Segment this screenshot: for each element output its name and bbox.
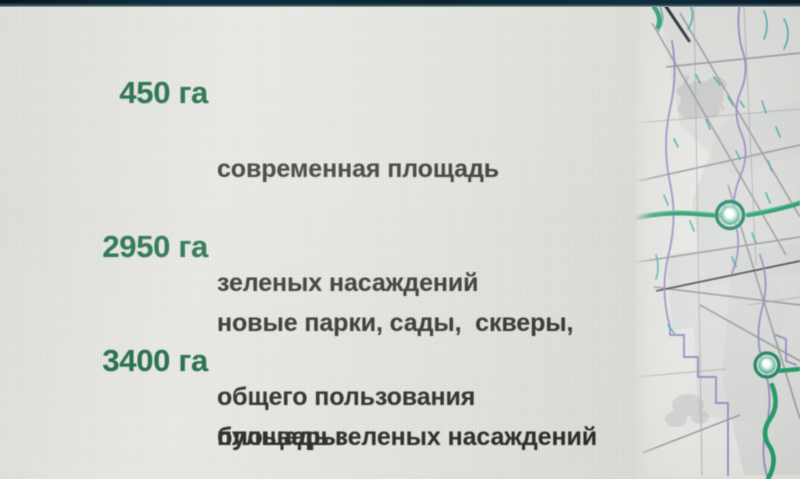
stat-description-line: современная площадь	[217, 150, 662, 188]
stat-row: 3400 га площадь зеленых насаждений общег…	[62, 342, 702, 479]
stats-list: 450 га современная площадь зеленых насаж…	[0, 0, 800, 479]
stat-description-line: новые парки, сады, скверы,	[217, 304, 682, 342]
stat-value-target-2050: 3400 га	[62, 342, 208, 380]
stat-value-current-area: 450 га	[62, 74, 208, 112]
slide-screenshot: 450 га современная площадь зеленых насаж…	[0, 0, 800, 479]
screen-top-bezel	[0, 0, 800, 7]
stat-description-line: площадь зеленых насаждений	[217, 418, 702, 456]
stat-description-target-2050: площадь зеленых насаждений общего пользо…	[208, 342, 702, 479]
stat-value-new-parks: 2950 га	[62, 228, 208, 266]
